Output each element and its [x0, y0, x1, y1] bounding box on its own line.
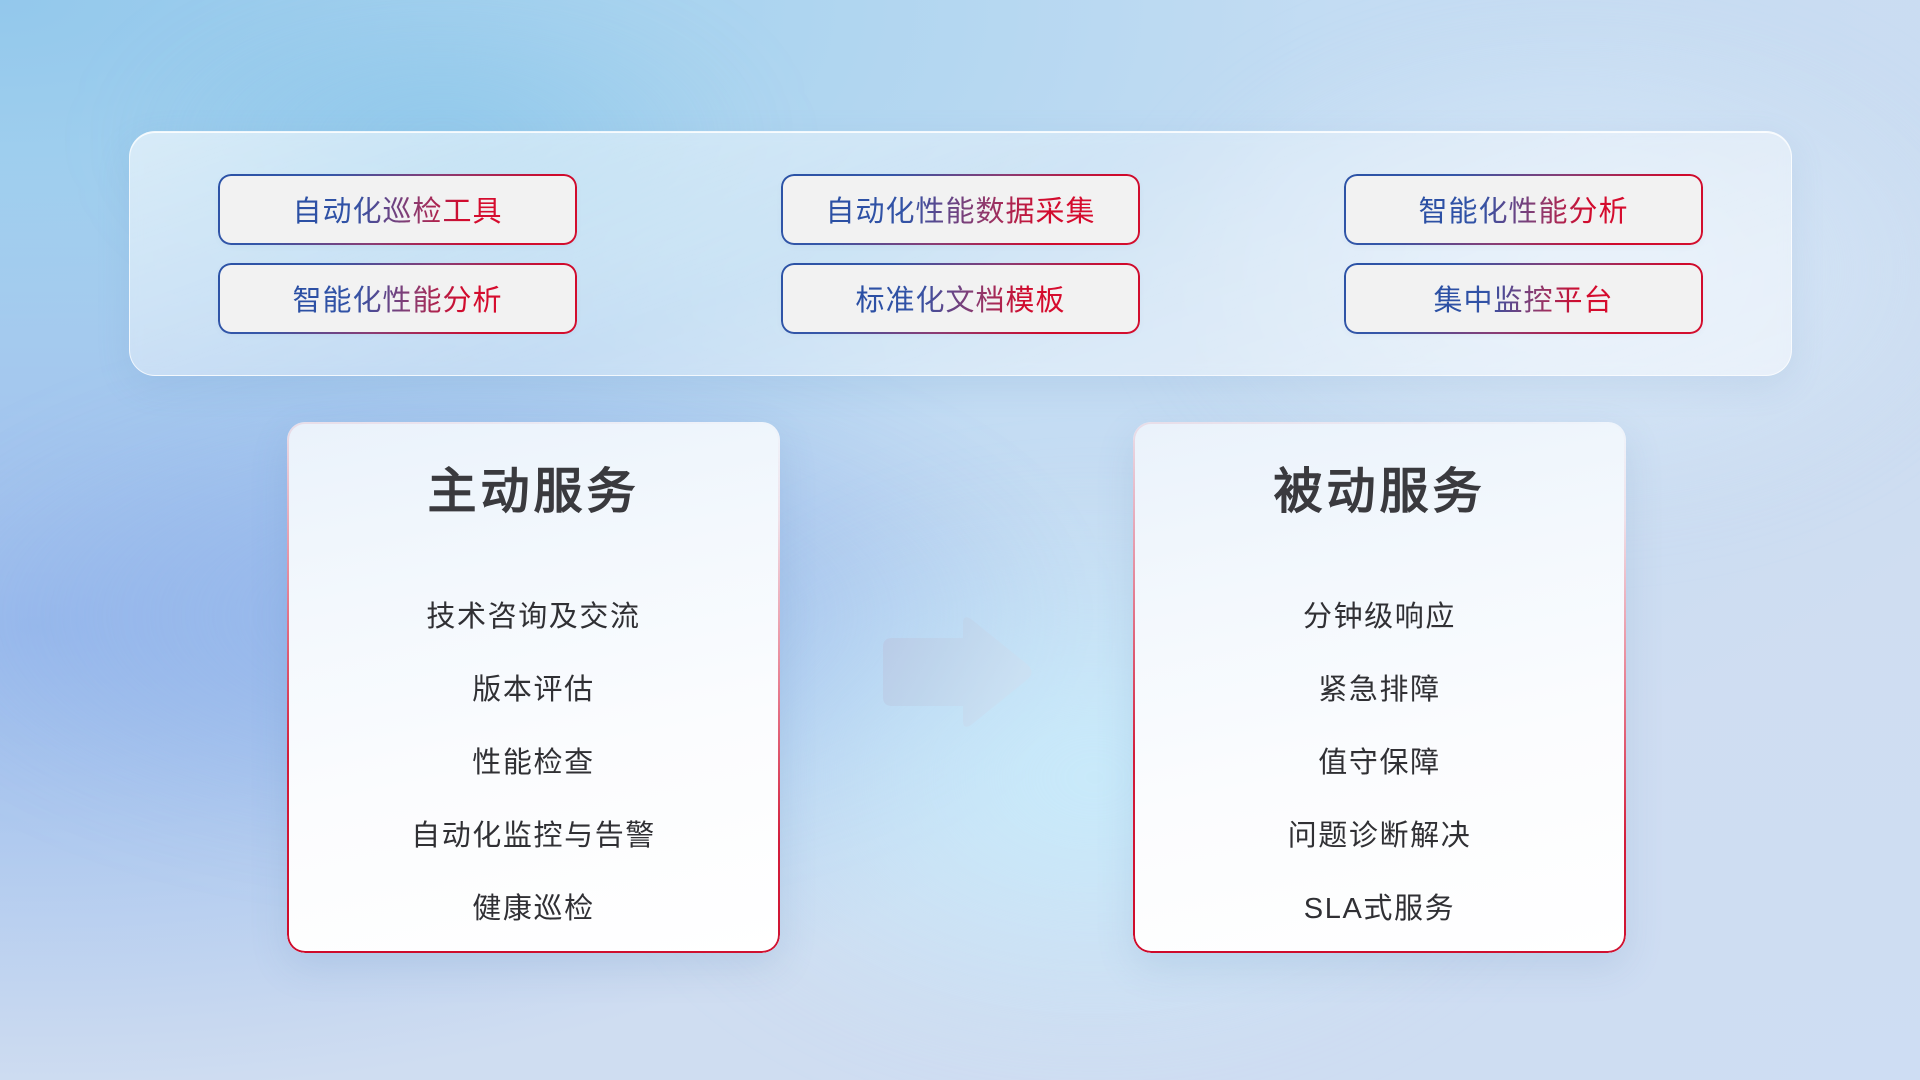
- capability-pill-standard-doc-template[interactable]: 标准化文档模板: [783, 265, 1138, 332]
- list-item: 问题诊断解决: [1161, 797, 1598, 870]
- capability-pill-label: 智能化性能分析: [1418, 188, 1628, 230]
- capability-pill-intelligent-performance-analysis-2[interactable]: 智能化性能分析: [220, 265, 575, 332]
- service-card-proactive: 主动服务 技术咨询及交流 版本评估 性能检查 自动化监控与告警 健康巡检: [287, 422, 780, 953]
- list-item: 版本评估: [315, 651, 752, 724]
- list-item: 自动化监控与告警: [315, 797, 752, 870]
- list-item: 分钟级响应: [1161, 578, 1598, 651]
- capability-pill-label: 自动化性能数据采集: [825, 188, 1095, 230]
- capability-pill-central-monitoring-platform[interactable]: 集中监控平台: [1346, 265, 1701, 332]
- list-item: 技术咨询及交流: [315, 578, 752, 651]
- capability-pill-intelligent-performance-analysis[interactable]: 智能化性能分析: [1346, 176, 1701, 243]
- capability-panel: 自动化巡检工具 自动化性能数据采集 智能化性能分析 智能化性能分析 标准化文档模…: [129, 131, 1792, 376]
- capability-pill-label: 智能化性能分析: [292, 277, 502, 319]
- capability-row-2: 智能化性能分析 标准化文档模板 集中监控平台: [220, 265, 1701, 332]
- list-item: 性能检查: [315, 724, 752, 797]
- list-item: 值守保障: [1161, 724, 1598, 797]
- capability-pill-label: 标准化文档模板: [855, 277, 1065, 319]
- card-item-list: 技术咨询及交流 版本评估 性能检查 自动化监控与告警 健康巡检: [315, 578, 752, 943]
- card-title: 主动服务: [427, 466, 639, 520]
- card-title: 被动服务: [1273, 466, 1485, 520]
- capability-pill-label: 自动化巡检工具: [292, 188, 502, 230]
- arrow-right-icon: [875, 613, 1035, 731]
- list-item: SLA式服务: [1161, 870, 1598, 943]
- capability-pill-auto-inspection-tool[interactable]: 自动化巡检工具: [220, 176, 575, 243]
- capability-pill-label: 集中监控平台: [1433, 277, 1613, 319]
- capability-pill-auto-performance-collection[interactable]: 自动化性能数据采集: [783, 176, 1138, 243]
- list-item: 紧急排障: [1161, 651, 1598, 724]
- capability-row-1: 自动化巡检工具 自动化性能数据采集 智能化性能分析: [220, 176, 1701, 243]
- service-card-reactive: 被动服务 分钟级响应 紧急排障 值守保障 问题诊断解决 SLA式服务: [1133, 422, 1626, 953]
- list-item: 健康巡检: [315, 870, 752, 943]
- card-item-list: 分钟级响应 紧急排障 值守保障 问题诊断解决 SLA式服务: [1161, 578, 1598, 943]
